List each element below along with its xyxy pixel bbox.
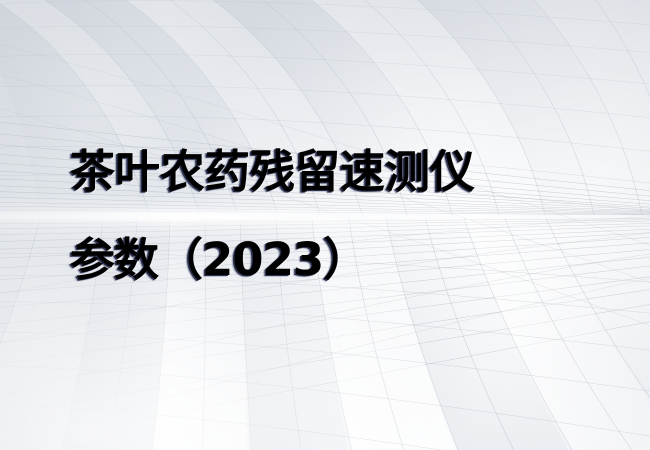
title-line-primary: 茶叶农药残留速测仪 — [70, 128, 590, 216]
title-line-secondary: 参数（2023） — [70, 216, 590, 304]
poster-title: 茶叶农药残留速测仪 参数（2023） — [70, 128, 590, 304]
poster-canvas: 茶叶农药残留速测仪 参数（2023） — [0, 0, 650, 450]
